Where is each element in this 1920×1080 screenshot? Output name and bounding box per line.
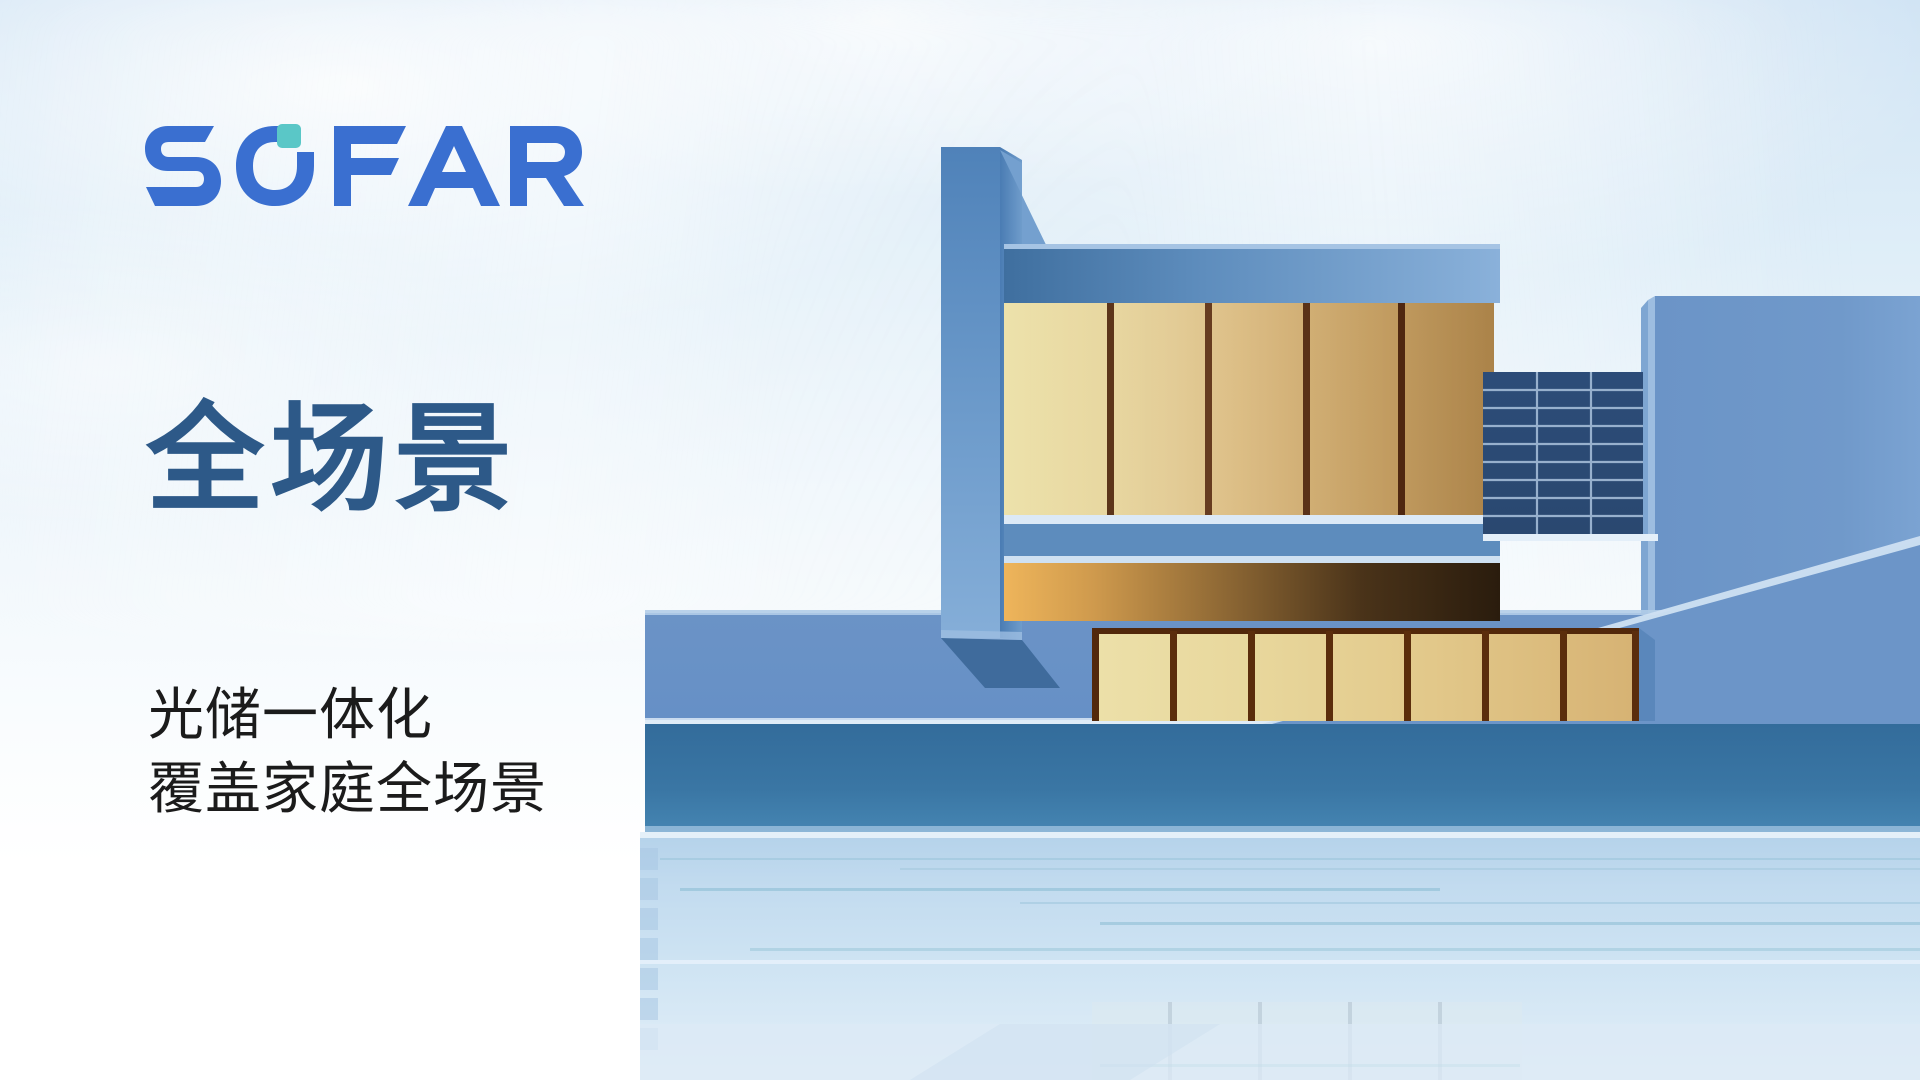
- sofar-logo[interactable]: [144, 118, 584, 210]
- hero-banner: 全场景 光储一体化 覆盖家庭全场景: [0, 0, 1920, 1080]
- subtitle-line-2: 覆盖家庭全场景: [148, 752, 547, 826]
- subtitle: 光储一体化 覆盖家庭全场景: [148, 678, 547, 826]
- page-title: 全场景: [146, 398, 518, 523]
- subtitle-line-1: 光储一体化: [148, 678, 547, 752]
- hero-copy: 全场景 光储一体化 覆盖家庭全场景: [144, 118, 764, 210]
- logo-accent-square: [277, 124, 301, 148]
